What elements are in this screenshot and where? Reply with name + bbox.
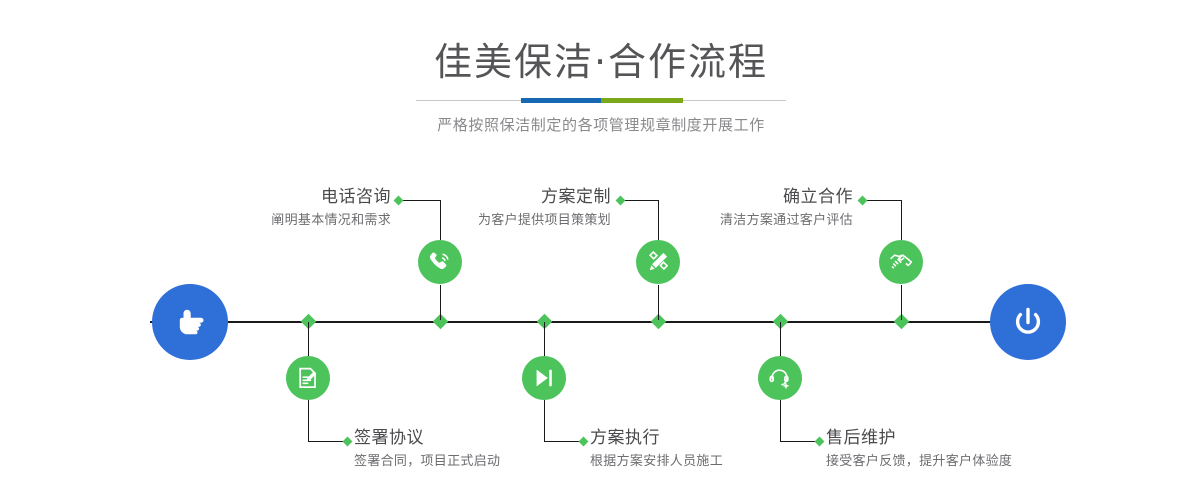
step-label-4: 方案执行 根据方案安排人员施工 — [590, 427, 850, 473]
step-icon-1[interactable] — [418, 240, 462, 284]
step-desc-5: 清洁方案通过客户评估 — [617, 210, 853, 232]
step-connector-h-6 — [780, 441, 817, 442]
step-title-3: 方案定制 — [375, 186, 611, 208]
step-stem-4 — [544, 322, 545, 357]
step-label-3: 方案定制 为客户提供项目策策划 — [375, 186, 611, 232]
step-desc-1: 阐明基本情况和需求 — [155, 210, 391, 232]
step-connector-h-5 — [864, 200, 901, 201]
step-connector-v-5 — [901, 200, 902, 240]
handshake-icon — [888, 249, 914, 275]
step-connector-tip-5 — [858, 196, 868, 206]
step-connector-v-6 — [780, 400, 781, 441]
step-stem-2 — [308, 322, 309, 357]
step-connector-h-4 — [544, 441, 581, 442]
cooperation-process-infographic: 佳美保洁·合作流程 严格按照保洁制定的各项管理规章制度开展工作 — [0, 0, 1202, 502]
step-icon-3[interactable] — [636, 240, 680, 284]
step-stem-6 — [780, 322, 781, 357]
step-label-1: 电话咨询 阐明基本情况和需求 — [155, 186, 391, 232]
step-title-2: 签署协议 — [354, 427, 614, 449]
power-icon — [1007, 301, 1049, 343]
step-title-1: 电话咨询 — [155, 186, 391, 208]
step-label-2: 签署协议 签署合同，项目正式启动 — [354, 427, 614, 473]
step-desc-6: 接受客户反馈，提升客户体验度 — [826, 451, 1106, 473]
step-desc-2: 签署合同，项目正式启动 — [354, 451, 614, 473]
step-desc-4: 根据方案安排人员施工 — [590, 451, 850, 473]
step-connector-h-2 — [308, 441, 345, 442]
step-icon-2[interactable] — [286, 356, 330, 400]
timeline: 电话咨询 阐明基本情况和需求 签署协议 签署合同，项目正式启动 — [0, 0, 1202, 502]
document-sign-icon — [295, 365, 321, 391]
pencil-ruler-icon — [645, 249, 671, 275]
step-icon-6[interactable] — [758, 356, 802, 400]
customer-service-icon — [767, 365, 793, 391]
pointing-hand-icon — [169, 301, 211, 343]
step-label-5: 确立合作 清洁方案通过客户评估 — [617, 186, 853, 232]
play-execute-icon — [531, 365, 557, 391]
step-connector-v-4 — [544, 400, 545, 441]
step-title-5: 确立合作 — [617, 186, 853, 208]
step-stem-5 — [901, 285, 902, 320]
step-label-6: 售后维护 接受客户反馈，提升客户体验度 — [826, 427, 1106, 473]
step-title-4: 方案执行 — [590, 427, 850, 449]
step-connector-v-2 — [308, 400, 309, 441]
timeline-start-node[interactable] — [152, 284, 228, 360]
step-desc-3: 为客户提供项目策策划 — [375, 210, 611, 232]
step-icon-5[interactable] — [879, 240, 923, 284]
timeline-axis — [150, 321, 1052, 323]
step-title-6: 售后维护 — [826, 427, 1106, 449]
step-icon-4[interactable] — [522, 356, 566, 400]
timeline-end-node[interactable] — [990, 284, 1066, 360]
step-stem-1 — [440, 285, 441, 320]
step-connector-tip-2 — [343, 437, 353, 447]
step-stem-3 — [658, 285, 659, 320]
phone-call-icon — [427, 249, 453, 275]
